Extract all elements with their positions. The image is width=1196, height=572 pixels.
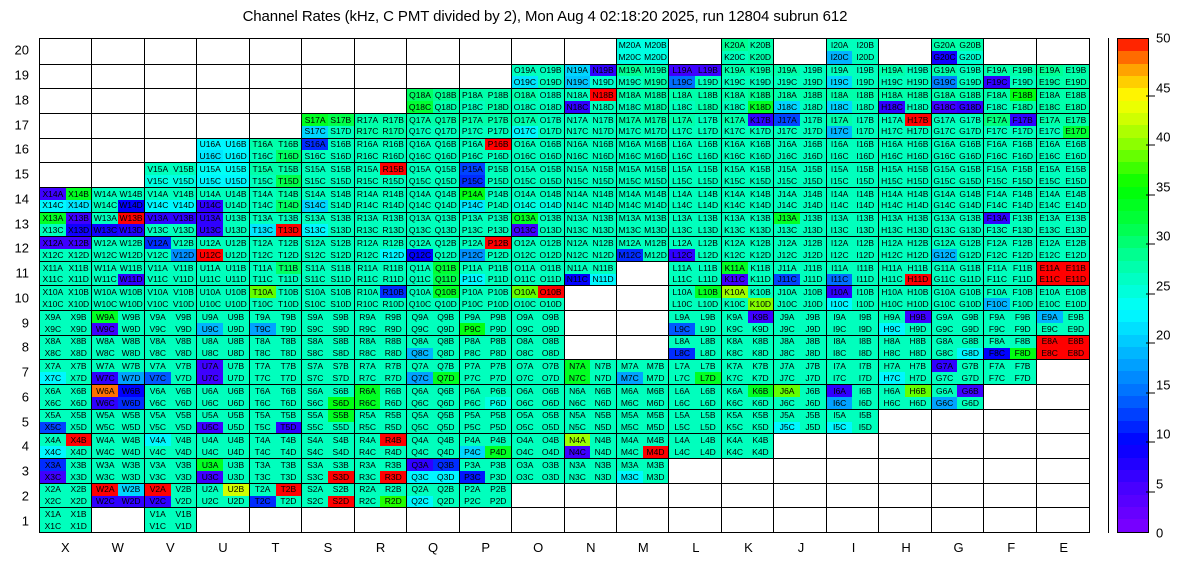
channel-P16B[interactable]: P16B	[485, 139, 511, 151]
channel-O13A[interactable]: O13A	[512, 213, 538, 225]
channel-N12B[interactable]: N12B	[590, 237, 616, 249]
channel-P10A[interactable]: P10A	[460, 286, 486, 298]
channel-W7A[interactable]: W7A	[92, 360, 118, 372]
channel-U2B[interactable]: U2B	[223, 484, 249, 496]
channel-H13B[interactable]: H13B	[905, 213, 931, 225]
channel-J9C[interactable]: J9C	[774, 323, 800, 335]
channel-Q5C[interactable]: Q5C	[407, 422, 433, 434]
channel-N17C[interactable]: N17C	[565, 126, 591, 138]
channel-U4D[interactable]: U4D	[223, 446, 249, 458]
channel-N7D[interactable]: N7D	[590, 372, 616, 384]
channel-O9A[interactable]: O9A	[512, 311, 538, 323]
channel-I11A[interactable]: I11A	[827, 262, 853, 274]
channel-X6C[interactable]: X6C	[40, 397, 66, 409]
channel-R5A[interactable]: R5A	[355, 410, 381, 422]
channel-N18D[interactable]: N18D	[590, 101, 616, 113]
channel-X2D[interactable]: X2D	[66, 496, 92, 508]
channel-U10A[interactable]: U10A	[197, 286, 223, 298]
channel-L17D[interactable]: L17D	[695, 126, 721, 138]
channel-O5B[interactable]: O5B	[538, 410, 564, 422]
channel-J16C[interactable]: J16C	[774, 150, 800, 162]
channel-G11C[interactable]: G11C	[932, 274, 958, 286]
channel-K4A[interactable]: K4A	[722, 434, 748, 446]
channel-P11D[interactable]: P11D	[485, 274, 511, 286]
channel-J11A[interactable]: J11A	[774, 262, 800, 274]
channel-F12D[interactable]: F12D	[1010, 249, 1036, 261]
channel-R6A[interactable]: R6A	[355, 385, 381, 397]
channel-N7A[interactable]: N7A	[565, 360, 591, 372]
channel-E10B[interactable]: E10B	[1063, 286, 1089, 298]
channel-U6A[interactable]: U6A	[197, 385, 223, 397]
channel-L15A[interactable]: L15A	[669, 163, 695, 175]
channel-H14A[interactable]: H14A	[879, 188, 905, 200]
channel-L6D[interactable]: L6D	[695, 397, 721, 409]
channel-H14B[interactable]: H14B	[905, 188, 931, 200]
channel-F11B[interactable]: F11B	[1010, 262, 1036, 274]
channel-K8B[interactable]: K8B	[748, 336, 774, 348]
channel-Q15B[interactable]: Q15B	[433, 163, 459, 175]
channel-P4D[interactable]: P4D	[485, 446, 511, 458]
channel-E11D[interactable]: E11D	[1063, 274, 1089, 286]
channel-L19D[interactable]: L19D	[695, 76, 721, 88]
channel-K16C[interactable]: K16C	[722, 150, 748, 162]
channel-Q4A[interactable]: Q4A	[407, 434, 433, 446]
channel-K7D[interactable]: K7D	[748, 372, 774, 384]
channel-H17C[interactable]: H17C	[879, 126, 905, 138]
channel-R16A[interactable]: R16A	[355, 139, 381, 151]
channel-V10A[interactable]: V10A	[145, 286, 171, 298]
channel-V15C[interactable]: V15C	[145, 175, 171, 187]
channel-O15D[interactable]: O15D	[538, 175, 564, 187]
channel-Q14B[interactable]: Q14B	[433, 188, 459, 200]
channel-F8B[interactable]: F8B	[1010, 336, 1036, 348]
channel-F16C[interactable]: F16C	[984, 150, 1010, 162]
channel-N3B[interactable]: N3B	[590, 459, 616, 471]
channel-J13A[interactable]: J13A	[774, 213, 800, 225]
channel-F12A[interactable]: F12A	[984, 237, 1010, 249]
channel-T9A[interactable]: T9A	[250, 311, 276, 323]
channel-G15A[interactable]: G15A	[932, 163, 958, 175]
channel-H9A[interactable]: H9A	[879, 311, 905, 323]
channel-G9C[interactable]: G9C	[932, 323, 958, 335]
channel-M12C[interactable]: M12C	[617, 249, 643, 261]
channel-W5B[interactable]: W5B	[118, 410, 144, 422]
channel-H12A[interactable]: H12A	[879, 237, 905, 249]
channel-M16C[interactable]: M16C	[617, 150, 643, 162]
channel-F12B[interactable]: F12B	[1010, 237, 1036, 249]
channel-X2A[interactable]: X2A	[40, 484, 66, 496]
channel-G9D[interactable]: G9D	[957, 323, 983, 335]
channel-O16A[interactable]: O16A	[512, 139, 538, 151]
channel-S6D[interactable]: S6D	[328, 397, 354, 409]
channel-N18B[interactable]: N18B	[590, 89, 616, 101]
channel-K4B[interactable]: K4B	[748, 434, 774, 446]
channel-P2C[interactable]: P2C	[460, 496, 486, 508]
channel-U8D[interactable]: U8D	[223, 348, 249, 360]
channel-Q17C[interactable]: Q17C	[407, 126, 433, 138]
channel-U12A[interactable]: U12A	[197, 237, 223, 249]
channel-G13A[interactable]: G13A	[932, 213, 958, 225]
channel-O12A[interactable]: O12A	[512, 237, 538, 249]
channel-L15B[interactable]: L15B	[695, 163, 721, 175]
channel-O19A[interactable]: O19A	[512, 65, 538, 77]
channel-R14C[interactable]: R14C	[355, 200, 381, 212]
channel-J6B[interactable]: J6B	[800, 385, 826, 397]
channel-Q12A[interactable]: Q12A	[407, 237, 433, 249]
channel-I16D[interactable]: I16D	[852, 150, 878, 162]
channel-L4B[interactable]: L4B	[695, 434, 721, 446]
channel-W14C[interactable]: W14C	[92, 200, 118, 212]
channel-V11B[interactable]: V11B	[171, 262, 197, 274]
channel-U6B[interactable]: U6B	[223, 385, 249, 397]
colorbar[interactable]	[1117, 38, 1149, 533]
channel-G11A[interactable]: G11A	[932, 262, 958, 274]
channel-K14A[interactable]: K14A	[722, 188, 748, 200]
channel-L4D[interactable]: L4D	[695, 446, 721, 458]
channel-J11C[interactable]: J11C	[774, 274, 800, 286]
channel-X9A[interactable]: X9A	[40, 311, 66, 323]
channel-J5B[interactable]: J5B	[800, 410, 826, 422]
channel-W10A[interactable]: W10A	[92, 286, 118, 298]
channel-E8D[interactable]: E8D	[1063, 348, 1089, 360]
channel-R10D[interactable]: R10D	[380, 298, 406, 310]
channel-I7A[interactable]: I7A	[827, 360, 853, 372]
channel-G19D[interactable]: G19D	[957, 76, 983, 88]
channel-H19A[interactable]: H19A	[879, 65, 905, 77]
channel-G19B[interactable]: G19B	[957, 65, 983, 77]
channel-E16D[interactable]: E16D	[1063, 150, 1089, 162]
channel-J8B[interactable]: J8B	[800, 336, 826, 348]
channel-V12A[interactable]: V12A	[145, 237, 171, 249]
heatmap-plot[interactable]: M20AM20BM20CM20DK20AK20BK20CK20DI20AI20B…	[39, 38, 1090, 533]
channel-X5B[interactable]: X5B	[66, 410, 92, 422]
channel-P10C[interactable]: P10C	[460, 298, 486, 310]
channel-R11D[interactable]: R11D	[380, 274, 406, 286]
channel-S6C[interactable]: S6C	[302, 397, 328, 409]
channel-E18D[interactable]: E18D	[1063, 101, 1089, 113]
channel-P15B[interactable]: P15B	[485, 163, 511, 175]
channel-F17D[interactable]: F17D	[1010, 126, 1036, 138]
channel-X9C[interactable]: X9C	[40, 323, 66, 335]
channel-N5D[interactable]: N5D	[590, 422, 616, 434]
channel-N14D[interactable]: N14D	[590, 200, 616, 212]
channel-M5C[interactable]: M5C	[617, 422, 643, 434]
channel-N19D[interactable]: N19D	[590, 76, 616, 88]
channel-R8C[interactable]: R8C	[355, 348, 381, 360]
channel-G6B[interactable]: G6B	[957, 385, 983, 397]
channel-Q18B[interactable]: Q18B	[433, 89, 459, 101]
channel-H9B[interactable]: H9B	[905, 311, 931, 323]
channel-E14C[interactable]: E14C	[1037, 200, 1063, 212]
channel-K13D[interactable]: K13D	[748, 224, 774, 236]
channel-E16A[interactable]: E16A	[1037, 139, 1063, 151]
channel-I8D[interactable]: I8D	[852, 348, 878, 360]
channel-N3A[interactable]: N3A	[565, 459, 591, 471]
channel-K4D[interactable]: K4D	[748, 446, 774, 458]
channel-O12C[interactable]: O12C	[512, 249, 538, 261]
channel-T6C[interactable]: T6C	[250, 397, 276, 409]
channel-O17C[interactable]: O17C	[512, 126, 538, 138]
channel-E15C[interactable]: E15C	[1037, 175, 1063, 187]
channel-S7A[interactable]: S7A	[302, 360, 328, 372]
channel-W4B[interactable]: W4B	[118, 434, 144, 446]
channel-L16B[interactable]: L16B	[695, 139, 721, 151]
channel-P9A[interactable]: P9A	[460, 311, 486, 323]
channel-U12C[interactable]: U12C	[197, 249, 223, 261]
channel-M18C[interactable]: M18C	[617, 101, 643, 113]
channel-H13C[interactable]: H13C	[879, 224, 905, 236]
channel-R13A[interactable]: R13A	[355, 213, 381, 225]
channel-J8A[interactable]: J8A	[774, 336, 800, 348]
channel-Q14A[interactable]: Q14A	[407, 188, 433, 200]
channel-L9A[interactable]: L9A	[669, 311, 695, 323]
channel-J16D[interactable]: J16D	[800, 150, 826, 162]
channel-U14C[interactable]: U14C	[197, 200, 223, 212]
channel-V6B[interactable]: V6B	[171, 385, 197, 397]
channel-V15A[interactable]: V15A	[145, 163, 171, 175]
channel-L7A[interactable]: L7A	[669, 360, 695, 372]
channel-W6B[interactable]: W6B	[118, 385, 144, 397]
channel-Q14C[interactable]: Q14C	[407, 200, 433, 212]
channel-N4D[interactable]: N4D	[590, 446, 616, 458]
channel-U11C[interactable]: U11C	[197, 274, 223, 286]
channel-L13A[interactable]: L13A	[669, 213, 695, 225]
channel-S16A[interactable]: S16A	[302, 139, 328, 151]
channel-L18D[interactable]: L18D	[695, 101, 721, 113]
channel-G20A[interactable]: G20A	[932, 39, 958, 51]
channel-O17D[interactable]: O17D	[538, 126, 564, 138]
channel-E15D[interactable]: E15D	[1063, 175, 1089, 187]
channel-F7D[interactable]: F7D	[1010, 372, 1036, 384]
channel-U5B[interactable]: U5B	[223, 410, 249, 422]
channel-K12D[interactable]: K12D	[748, 249, 774, 261]
channel-R12A[interactable]: R12A	[355, 237, 381, 249]
channel-R4C[interactable]: R4C	[355, 446, 381, 458]
channel-K6A[interactable]: K6A	[722, 385, 748, 397]
channel-O5C[interactable]: O5C	[512, 422, 538, 434]
channel-H7D[interactable]: H7D	[905, 372, 931, 384]
channel-J5D[interactable]: J5D	[800, 422, 826, 434]
channel-V14C[interactable]: V14C	[145, 200, 171, 212]
channel-K18D[interactable]: K18D	[748, 101, 774, 113]
channel-O18C[interactable]: O18C	[512, 101, 538, 113]
channel-T9B[interactable]: T9B	[276, 311, 302, 323]
channel-G8B[interactable]: G8B	[957, 336, 983, 348]
channel-X14C[interactable]: X14C	[40, 200, 66, 212]
channel-X5C[interactable]: X5C	[40, 422, 66, 434]
channel-Q13D[interactable]: Q13D	[433, 224, 459, 236]
channel-X12C[interactable]: X12C	[40, 249, 66, 261]
channel-Q4C[interactable]: Q4C	[407, 446, 433, 458]
channel-N11C[interactable]: N11C	[565, 274, 591, 286]
channel-L16D[interactable]: L16D	[695, 150, 721, 162]
channel-S13D[interactable]: S13D	[328, 224, 354, 236]
channel-Q18C[interactable]: Q18C	[407, 101, 433, 113]
channel-K4C[interactable]: K4C	[722, 446, 748, 458]
channel-L8C[interactable]: L8C	[669, 348, 695, 360]
channel-Q18A[interactable]: Q18A	[407, 89, 433, 101]
channel-I14B[interactable]: I14B	[852, 188, 878, 200]
channel-K19D[interactable]: K19D	[748, 76, 774, 88]
channel-U16A[interactable]: U16A	[197, 139, 223, 151]
channel-J10B[interactable]: J10B	[800, 286, 826, 298]
channel-H8D[interactable]: H8D	[905, 348, 931, 360]
channel-W11C[interactable]: W11C	[92, 274, 118, 286]
channel-I15A[interactable]: I15A	[827, 163, 853, 175]
channel-S3D[interactable]: S3D	[328, 471, 354, 483]
channel-J14A[interactable]: J14A	[774, 188, 800, 200]
channel-N16B[interactable]: N16B	[590, 139, 616, 151]
channel-U4C[interactable]: U4C	[197, 446, 223, 458]
channel-Q9C[interactable]: Q9C	[407, 323, 433, 335]
channel-K14B[interactable]: K14B	[748, 188, 774, 200]
channel-I14A[interactable]: I14A	[827, 188, 853, 200]
channel-L6A[interactable]: L6A	[669, 385, 695, 397]
channel-X12B[interactable]: X12B	[66, 237, 92, 249]
channel-J17A[interactable]: J17A	[774, 114, 800, 126]
channel-I18A[interactable]: I18A	[827, 89, 853, 101]
channel-H7C[interactable]: H7C	[879, 372, 905, 384]
channel-Q12C[interactable]: Q12C	[407, 249, 433, 261]
channel-E13C[interactable]: E13C	[1037, 224, 1063, 236]
channel-I15D[interactable]: I15D	[852, 175, 878, 187]
channel-Q6A[interactable]: Q6A	[407, 385, 433, 397]
channel-K17B[interactable]: K17B	[748, 114, 774, 126]
channel-V3A[interactable]: V3A	[145, 459, 171, 471]
channel-X14A[interactable]: X14A	[40, 188, 66, 200]
channel-G10D[interactable]: G10D	[957, 298, 983, 310]
channel-O3D[interactable]: O3D	[538, 471, 564, 483]
channel-G17B[interactable]: G17B	[957, 114, 983, 126]
channel-O10C[interactable]: O10C	[512, 298, 538, 310]
channel-G10C[interactable]: G10C	[932, 298, 958, 310]
channel-E18B[interactable]: E18B	[1063, 89, 1089, 101]
channel-O12B[interactable]: O12B	[538, 237, 564, 249]
channel-J7A[interactable]: J7A	[774, 360, 800, 372]
channel-N7B[interactable]: N7B	[590, 360, 616, 372]
channel-G6C[interactable]: G6C	[932, 397, 958, 409]
channel-N13B[interactable]: N13B	[590, 213, 616, 225]
channel-O13D[interactable]: O13D	[538, 224, 564, 236]
channel-I13D[interactable]: I13D	[852, 224, 878, 236]
channel-S7D[interactable]: S7D	[328, 372, 354, 384]
channel-V6D[interactable]: V6D	[171, 397, 197, 409]
channel-M5D[interactable]: M5D	[643, 422, 669, 434]
channel-I9B[interactable]: I9B	[852, 311, 878, 323]
channel-X1D[interactable]: X1D	[66, 520, 92, 532]
channel-R11C[interactable]: R11C	[355, 274, 381, 286]
channel-U9A[interactable]: U9A	[197, 311, 223, 323]
channel-S14C[interactable]: S14C	[302, 200, 328, 212]
channel-U14A[interactable]: U14A	[197, 188, 223, 200]
channel-O3C[interactable]: O3C	[512, 471, 538, 483]
channel-E14B[interactable]: E14B	[1063, 188, 1089, 200]
channel-H11C[interactable]: H11C	[879, 274, 905, 286]
channel-M4A[interactable]: M4A	[617, 434, 643, 446]
channel-Q16B[interactable]: Q16B	[433, 139, 459, 151]
channel-P6C[interactable]: P6C	[460, 397, 486, 409]
channel-S2B[interactable]: S2B	[328, 484, 354, 496]
channel-P5C[interactable]: P5C	[460, 422, 486, 434]
channel-P12B[interactable]: P12B	[485, 237, 511, 249]
channel-U14D[interactable]: U14D	[223, 200, 249, 212]
channel-Q5B[interactable]: Q5B	[433, 410, 459, 422]
channel-Q6D[interactable]: Q6D	[433, 397, 459, 409]
channel-H9D[interactable]: H9D	[905, 323, 931, 335]
channel-K9A[interactable]: K9A	[722, 311, 748, 323]
channel-J17D[interactable]: J17D	[800, 126, 826, 138]
channel-E8B[interactable]: E8B	[1063, 336, 1089, 348]
channel-U4A[interactable]: U4A	[197, 434, 223, 446]
channel-T12D[interactable]: T12D	[276, 249, 302, 261]
channel-L14A[interactable]: L14A	[669, 188, 695, 200]
channel-S9C[interactable]: S9C	[302, 323, 328, 335]
channel-T15C[interactable]: T15C	[250, 175, 276, 187]
channel-S15D[interactable]: S15D	[328, 175, 354, 187]
channel-N18C[interactable]: N18C	[565, 101, 591, 113]
channel-F10C[interactable]: F10C	[984, 298, 1010, 310]
channel-R12B[interactable]: R12B	[380, 237, 406, 249]
channel-U11D[interactable]: U11D	[223, 274, 249, 286]
channel-H15D[interactable]: H15D	[905, 175, 931, 187]
channel-S12C[interactable]: S12C	[302, 249, 328, 261]
channel-R8B[interactable]: R8B	[380, 336, 406, 348]
channel-P18B[interactable]: P18B	[485, 89, 511, 101]
channel-W6A[interactable]: W6A	[92, 385, 118, 397]
channel-N11A[interactable]: N11A	[565, 262, 591, 274]
channel-Q12B[interactable]: Q12B	[433, 237, 459, 249]
channel-X9D[interactable]: X9D	[66, 323, 92, 335]
channel-W13B[interactable]: W13B	[118, 213, 144, 225]
channel-P18C[interactable]: P18C	[460, 101, 486, 113]
channel-T5D[interactable]: T5D	[276, 422, 302, 434]
channel-H10A[interactable]: H10A	[879, 286, 905, 298]
channel-R17A[interactable]: R17A	[355, 114, 381, 126]
channel-P5A[interactable]: P5A	[460, 410, 486, 422]
channel-Q15D[interactable]: Q15D	[433, 175, 459, 187]
channel-O15A[interactable]: O15A	[512, 163, 538, 175]
channel-G10A[interactable]: G10A	[932, 286, 958, 298]
channel-I6C[interactable]: I6C	[827, 397, 853, 409]
channel-T2B[interactable]: T2B	[276, 484, 302, 496]
channel-V2A[interactable]: V2A	[145, 484, 171, 496]
channel-S5A[interactable]: S5A	[302, 410, 328, 422]
channel-E12D[interactable]: E12D	[1063, 249, 1089, 261]
channel-X11A[interactable]: X11A	[40, 262, 66, 274]
channel-G20B[interactable]: G20B	[957, 39, 983, 51]
channel-U7C[interactable]: U7C	[197, 372, 223, 384]
channel-S16D[interactable]: S16D	[328, 150, 354, 162]
channel-T7B[interactable]: T7B	[276, 360, 302, 372]
channel-I10B[interactable]: I10B	[852, 286, 878, 298]
channel-P14B[interactable]: P14B	[485, 188, 511, 200]
channel-I5B[interactable]: I5B	[852, 410, 878, 422]
channel-P17A[interactable]: P17A	[460, 114, 486, 126]
channel-P12C[interactable]: P12C	[460, 249, 486, 261]
channel-P9D[interactable]: P9D	[485, 323, 511, 335]
channel-S15A[interactable]: S15A	[302, 163, 328, 175]
channel-L6B[interactable]: L6B	[695, 385, 721, 397]
channel-S9D[interactable]: S9D	[328, 323, 354, 335]
channel-P10B[interactable]: P10B	[485, 286, 511, 298]
channel-V4C[interactable]: V4C	[145, 446, 171, 458]
channel-W8C[interactable]: W8C	[92, 348, 118, 360]
channel-W10B[interactable]: W10B	[118, 286, 144, 298]
channel-N13D[interactable]: N13D	[590, 224, 616, 236]
channel-M12A[interactable]: M12A	[617, 237, 643, 249]
channel-F18D[interactable]: F18D	[1010, 101, 1036, 113]
channel-R9C[interactable]: R9C	[355, 323, 381, 335]
